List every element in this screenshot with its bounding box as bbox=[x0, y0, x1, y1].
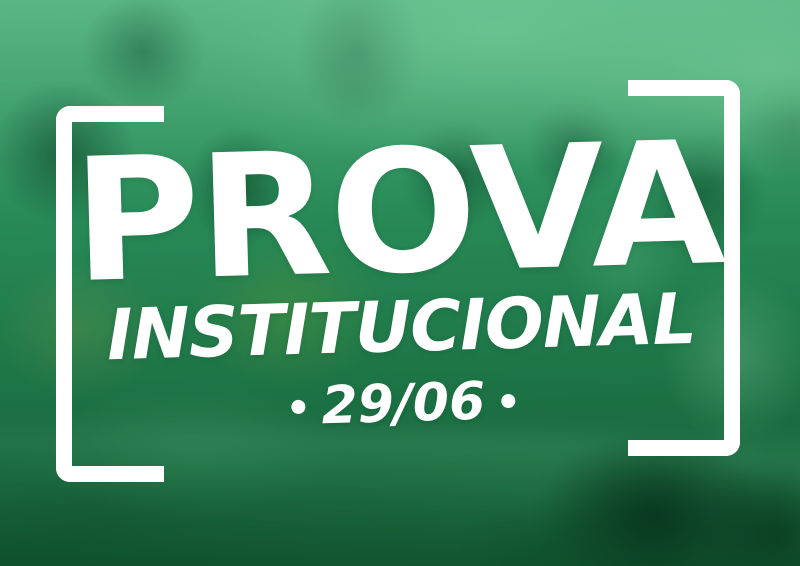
bullet-dot-left-icon bbox=[291, 400, 305, 414]
poster-canvas: PROVA INSTITUCIONAL 29/06 bbox=[0, 0, 800, 566]
page-title: PROVA bbox=[0, 129, 800, 298]
page-subtitle: INSTITUCIONAL bbox=[4, 281, 798, 373]
title-block: PROVA INSTITUCIONAL 29/06 bbox=[0, 129, 800, 441]
bullet-dot-right-icon bbox=[501, 394, 515, 408]
event-date: 29/06 bbox=[321, 376, 486, 433]
